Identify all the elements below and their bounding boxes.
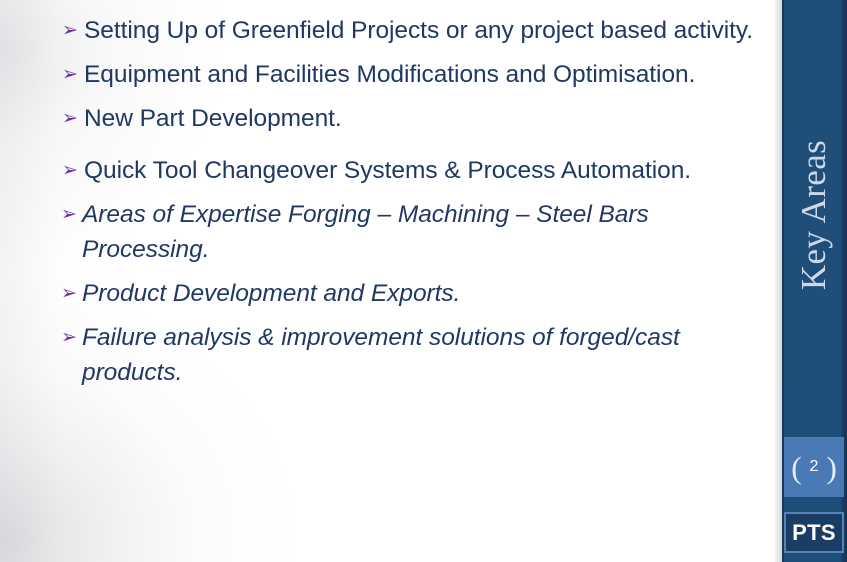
bullet-arrow-icon: ➢ — [62, 57, 82, 92]
bullet-list: ➢ Setting Up of Greenfield Projects or a… — [0, 13, 775, 394]
sidebar-title-text: Key Areas — [795, 140, 835, 290]
bullet-text: New Part Development. — [84, 105, 342, 132]
bullet-item-4: ➢ Quick Tool Changeover Systems & Proces… — [0, 153, 775, 188]
pts-logo: PTS — [784, 512, 844, 553]
bullet-item-5: ➢ Areas of Expertise Forging – Machining… — [0, 197, 775, 267]
bullet-text: Areas of Expertise Forging – Machining –… — [82, 201, 649, 263]
bullet-arrow-icon: ➢ — [61, 320, 81, 355]
slide-content-area: Consultancy Services in the following ar… — [0, 0, 775, 562]
page-number-plaque: ( 2 ) — [784, 437, 844, 497]
bracket-right-icon: ) — [826, 452, 836, 483]
bullet-arrow-icon: ➢ — [62, 153, 82, 188]
bullet-text: Quick Tool Changeover Systems & Process … — [84, 157, 691, 184]
clipped-heading-line: Consultancy Services in the following ar… — [84, 0, 724, 2]
bullet-text: Product Development and Exports. — [82, 280, 460, 307]
bullet-text: Failure analysis & improvement solutions… — [82, 324, 680, 386]
bullet-item-6: ➢ Product Development and Exports. — [0, 276, 775, 311]
page-number: 2 — [810, 459, 819, 475]
bullet-item-7: ➢ Failure analysis & improvement solutio… — [0, 320, 775, 390]
sidebar: Key Areas ( 2 ) PTS — [775, 0, 847, 562]
sidebar-gutter — [775, 0, 782, 562]
bullet-arrow-icon: ➢ — [62, 101, 82, 136]
bullet-arrow-icon: ➢ — [61, 276, 81, 311]
sidebar-title: Key Areas — [782, 0, 847, 430]
slide: Consultancy Services in the following ar… — [0, 0, 847, 562]
bullet-item-3: ➢ New Part Development. — [0, 101, 775, 136]
bullet-arrow-icon: ➢ — [61, 197, 81, 232]
bullet-item-2: ➢ Equipment and Facilities Modifications… — [0, 57, 775, 92]
pts-logo-text: PTS — [792, 520, 836, 546]
bracket-left-icon: ( — [791, 452, 801, 483]
bullet-text: Equipment and Facilities Modifications a… — [84, 61, 695, 88]
bullet-text: Setting Up of Greenfield Projects or any… — [84, 17, 753, 44]
bullet-item-1: ➢ Setting Up of Greenfield Projects or a… — [0, 13, 775, 48]
bullet-arrow-icon: ➢ — [62, 13, 82, 48]
